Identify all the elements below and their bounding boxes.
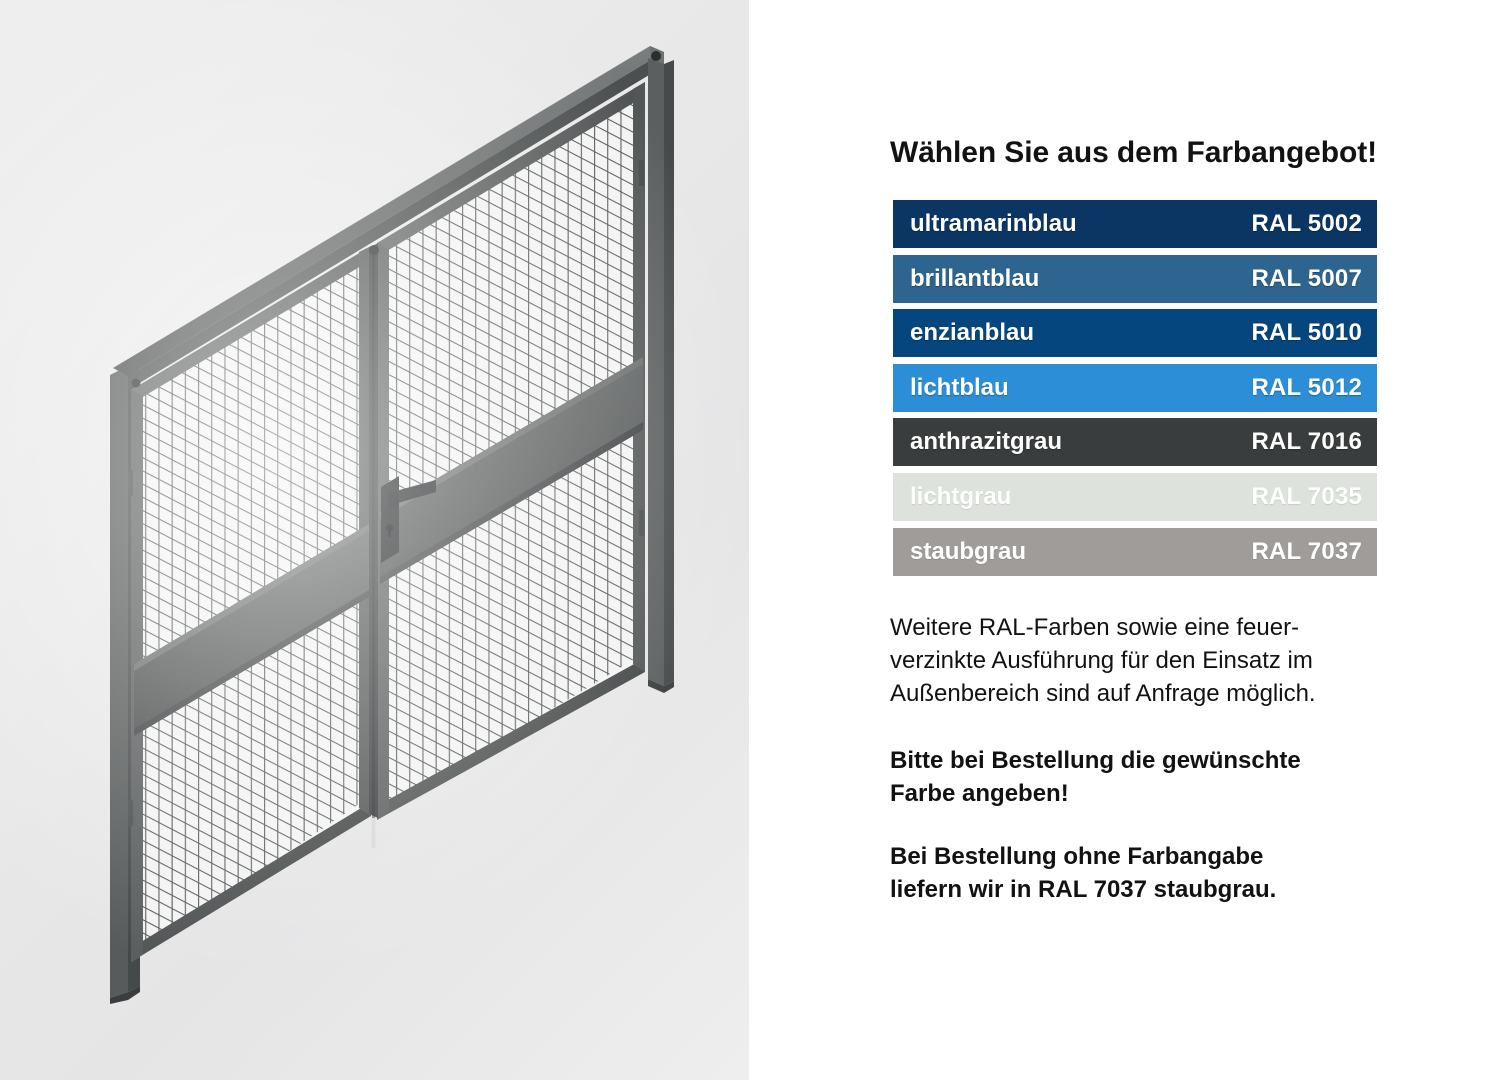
- additional-colors-note: Weitere RAL-Farben sowie eine feuer- ver…: [890, 611, 1390, 710]
- color-swatch-row-ral5007[interactable]: brillantblau RAL 5007: [893, 255, 1377, 303]
- color-code: RAL 7037: [1251, 540, 1362, 564]
- color-code: RAL 5012: [1251, 376, 1362, 400]
- color-swatch-list: ultramarinblau RAL 5002 brillantblau RAL…: [893, 200, 1377, 582]
- note-line: Weitere RAL-Farben sowie eine feuer-: [890, 611, 1390, 644]
- note-line: Farbe angeben!: [890, 777, 1390, 810]
- color-swatch-row-ral7016[interactable]: anthrazitgrau RAL 7016: [893, 418, 1377, 466]
- gate-wing-right: [370, 70, 660, 850]
- color-code: RAL 7035: [1251, 485, 1362, 509]
- color-code: RAL 5007: [1251, 267, 1362, 291]
- color-name: lichtblau: [910, 376, 1009, 400]
- page-root: Wählen Sie aus dem Farbangebot! ultramar…: [0, 0, 1500, 1080]
- page-title: Wählen Sie aus dem Farbangebot!: [890, 136, 1377, 170]
- color-swatch-row-ral5012[interactable]: lichtblau RAL 5012: [893, 364, 1377, 412]
- product-image-panel: [0, 0, 749, 1080]
- note-line: verzinkte Ausführung für den Einsatz im: [890, 644, 1390, 677]
- color-name: staubgrau: [910, 540, 1026, 564]
- note-line: liefern wir in RAL 7037 staubgrau.: [890, 873, 1390, 906]
- color-name: ultramarinblau: [910, 212, 1077, 236]
- color-code: RAL 5002: [1251, 212, 1362, 236]
- color-name: lichtgrau: [910, 485, 1011, 509]
- color-swatch-row-ral7037[interactable]: staubgrau RAL 7037: [893, 528, 1377, 576]
- color-swatch-row-ral7035[interactable]: lichtgrau RAL 7035: [893, 473, 1377, 521]
- default-color-note: Bei Bestellung ohne Farbangabe liefern w…: [890, 840, 1390, 906]
- color-code: RAL 5010: [1251, 321, 1362, 345]
- color-name: enzianblau: [910, 321, 1034, 345]
- color-code: RAL 7016: [1251, 430, 1362, 454]
- color-name: brillantblau: [910, 267, 1039, 291]
- order-instruction-note: Bitte bei Bestellung die gewünschte Farb…: [890, 744, 1390, 810]
- note-line: Bitte bei Bestellung die gewünschte: [890, 744, 1390, 777]
- double-wing-mesh-gate-render: [0, 0, 749, 1080]
- note-line: Außenbereich sind auf Anfrage möglich.: [890, 677, 1390, 710]
- color-swatch-row-ral5002[interactable]: ultramarinblau RAL 5002: [893, 200, 1377, 248]
- color-offer-panel: Wählen Sie aus dem Farbangebot! ultramar…: [749, 0, 1500, 1080]
- note-line: Bei Bestellung ohne Farbangabe: [890, 840, 1390, 873]
- color-name: anthrazitgrau: [910, 430, 1062, 454]
- color-swatch-row-ral5010[interactable]: enzianblau RAL 5010: [893, 309, 1377, 357]
